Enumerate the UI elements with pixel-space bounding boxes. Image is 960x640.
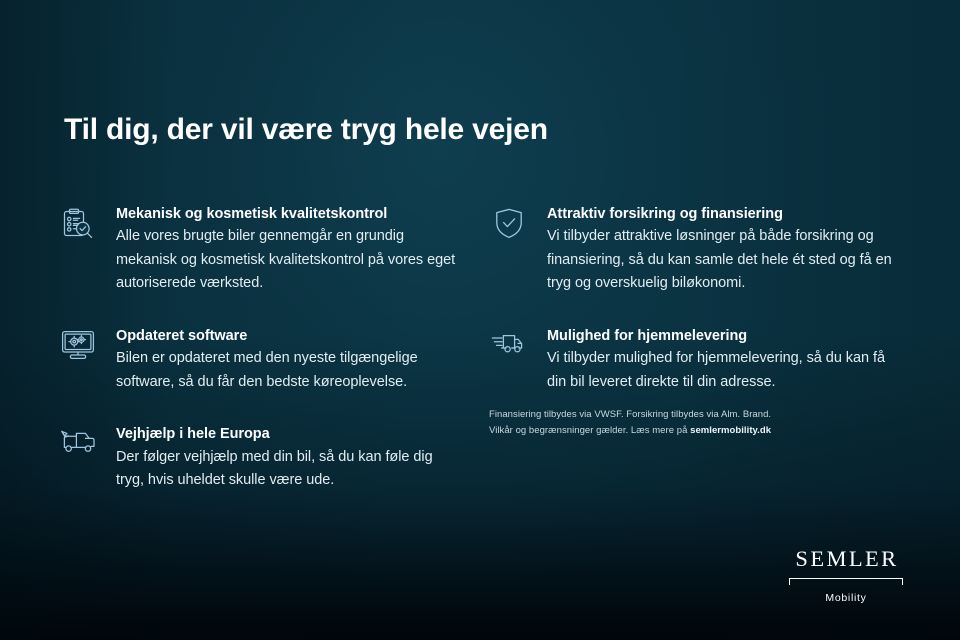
legal-disclaimer: Finansiering tilbydes via VWSF. Forsikri… (489, 407, 809, 440)
logo-rule (789, 578, 903, 587)
logo-wordmark: SEMLER (789, 548, 903, 571)
feature-item-updated-software: Opdateret software Bilen er opdateret me… (58, 327, 458, 394)
slide-canvas: Til dig, der vil være tryg hele vejen (0, 0, 960, 640)
semlermobility-link[interactable]: semlermobility.dk (690, 425, 771, 436)
delivery-truck-icon (489, 330, 529, 370)
feature-description: Vi tilbyder mulighed for hjemmelevering,… (547, 347, 899, 394)
feature-title: Mekanisk og kosmetisk kvalitetskontrol (116, 205, 458, 224)
monitor-gears-icon (58, 330, 98, 370)
feature-item-home-delivery: Mulighed for hjemmelevering Vi tilbyder … (489, 327, 909, 394)
feature-column-right: Attraktiv forsikring og finansiering Vi … (489, 205, 909, 394)
shield-check-icon (489, 208, 529, 248)
disclaimer-line-2-text: Vilkår og begrænsninger gælder. Læs mere… (489, 425, 690, 436)
feature-item-roadside-assistance: Vejhjælp i hele Europa Der følger vejhjæ… (58, 425, 458, 492)
feature-column-left: Mekanisk og kosmetisk kvalitetskontrol A… (58, 205, 458, 493)
feature-item-quality-control: Mekanisk og kosmetisk kvalitetskontrol A… (58, 205, 458, 296)
feature-title: Opdateret software (116, 327, 458, 346)
logo-subtitle: Mobility (789, 592, 903, 604)
feature-description: Der følger vejhjælp med din bil, så du k… (116, 446, 458, 493)
clipboard-magnifier-check-icon (58, 208, 98, 248)
tow-truck-icon (58, 428, 98, 468)
feature-description: Alle vores brugte biler gennemgår en gru… (116, 225, 458, 295)
feature-title: Mulighed for hjemmelevering (547, 327, 909, 346)
disclaimer-line-1: Finansiering tilbydes via VWSF. Forsikri… (489, 407, 809, 423)
feature-description: Vi tilbyder attraktive løsninger på både… (547, 225, 899, 295)
feature-item-insurance-financing: Attraktiv forsikring og finansiering Vi … (489, 205, 909, 296)
feature-title: Attraktiv forsikring og finansiering (547, 205, 909, 224)
feature-description: Bilen er opdateret med den nyeste tilgæn… (116, 347, 458, 394)
disclaimer-line-2: Vilkår og begrænsninger gælder. Læs mere… (489, 423, 809, 439)
semler-mobility-logo: SEMLER Mobility (789, 548, 903, 604)
feature-title: Vejhjælp i hele Europa (116, 425, 458, 444)
page-title: Til dig, der vil være tryg hele vejen (64, 113, 548, 147)
